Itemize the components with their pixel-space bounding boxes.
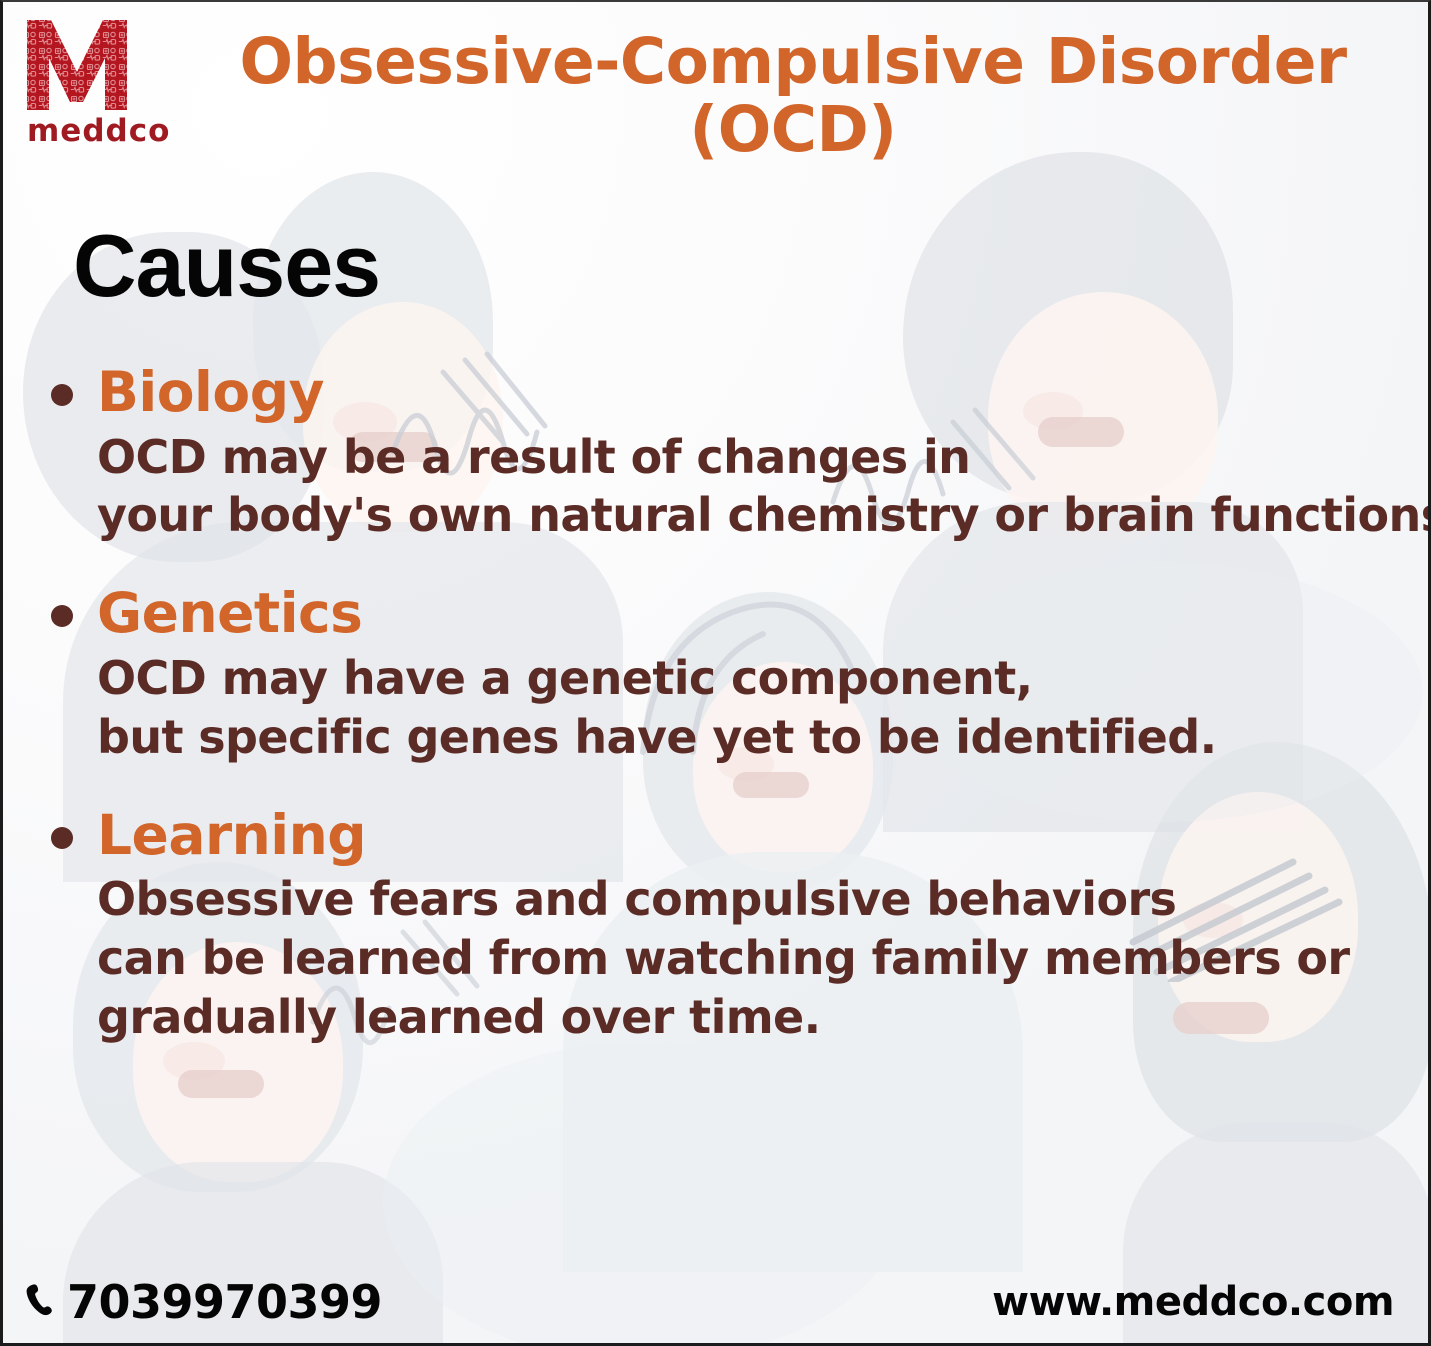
- cause-body-line: but specific genes have yet to be identi…: [97, 708, 1409, 767]
- bullet-dot-icon: [51, 827, 73, 849]
- meddco-m-icon: [21, 14, 161, 114]
- cause-body: Obsessive fears and compulsive behaviors…: [97, 870, 1409, 1047]
- cause-heading-row: Genetics: [39, 583, 1409, 645]
- meddco-logo: meddco: [21, 14, 171, 152]
- cause-heading: Biology: [97, 362, 324, 424]
- cause-item-biology: Biology OCD may be a result of changes i…: [39, 362, 1409, 545]
- cause-heading: Genetics: [97, 583, 362, 645]
- phone-number: 7039970399: [67, 1275, 382, 1329]
- cause-body-line: OCD may have a genetic component,: [97, 649, 1409, 708]
- cause-heading-row: Learning: [39, 805, 1409, 867]
- cause-item-genetics: Genetics OCD may have a genetic componen…: [39, 583, 1409, 766]
- cause-heading: Learning: [97, 805, 366, 867]
- cause-body-line: Obsessive fears and compulsive behaviors: [97, 870, 1409, 929]
- cause-body-line: your body's own natural chemistry or bra…: [97, 486, 1409, 545]
- poster-title: Obsessive-Compulsive Disorder (OCD): [203, 28, 1383, 164]
- cause-body: OCD may have a genetic component, but sp…: [97, 649, 1409, 767]
- cause-body-line: OCD may be a result of changes in: [97, 428, 1409, 487]
- contact-phone[interactable]: 7039970399: [23, 1275, 382, 1329]
- title-line-2: (OCD): [203, 96, 1383, 164]
- website-url[interactable]: www.meddco.com: [992, 1279, 1394, 1325]
- cause-heading-row: Biology: [39, 362, 1409, 424]
- infographic-poster: meddco Obsessive-Compulsive Disorder (OC…: [0, 0, 1431, 1346]
- logo-wordmark: meddco: [21, 116, 171, 147]
- title-line-1: Obsessive-Compulsive Disorder: [203, 28, 1383, 96]
- cause-item-learning: Learning Obsessive fears and compulsive …: [39, 805, 1409, 1047]
- causes-heading: Causes: [73, 222, 380, 310]
- bullet-dot-icon: [51, 384, 73, 406]
- cause-body: OCD may be a result of changes in your b…: [97, 428, 1409, 546]
- causes-list: Biology OCD may be a result of changes i…: [39, 362, 1409, 1085]
- phone-handset-icon: [23, 1283, 53, 1321]
- cause-body-line: gradually learned over time.: [97, 988, 1409, 1047]
- poster-footer: 7039970399 www.meddco.com: [3, 1269, 1428, 1343]
- cause-body-line: can be learned from watching family memb…: [97, 929, 1409, 988]
- bullet-dot-icon: [51, 605, 73, 627]
